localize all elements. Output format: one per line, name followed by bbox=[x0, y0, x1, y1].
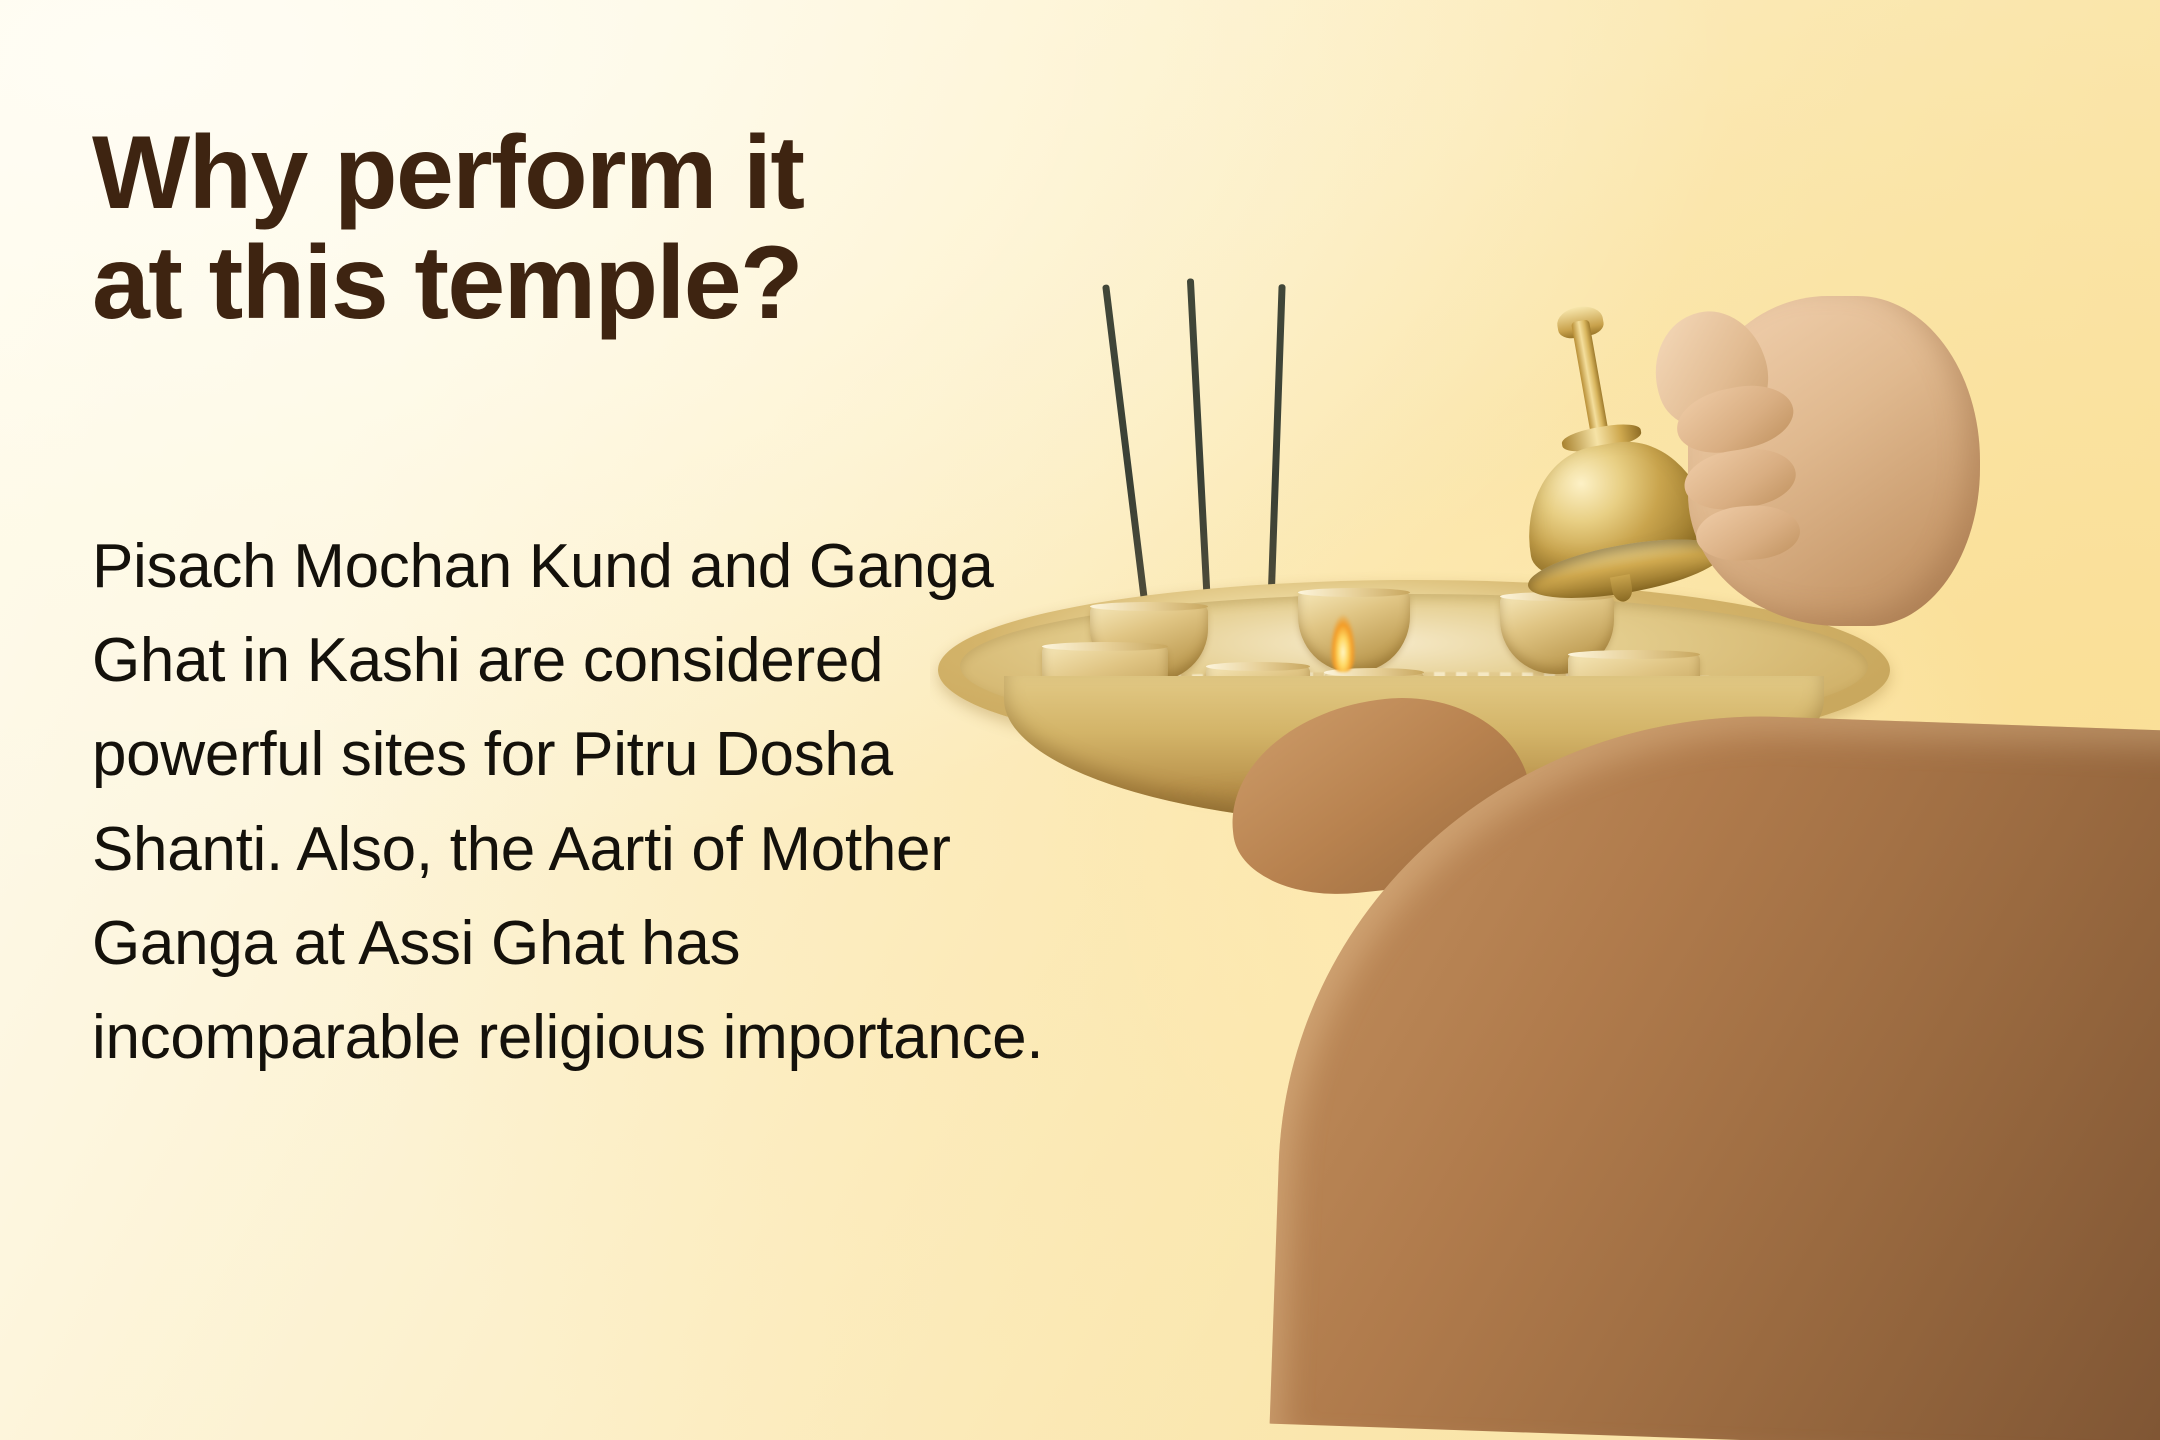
diya-lamp-lip bbox=[1298, 588, 1410, 597]
aarti-photo bbox=[930, 0, 2160, 1440]
diya-lamp-lip bbox=[1090, 602, 1208, 611]
diya-lamp-lip bbox=[1042, 642, 1168, 651]
diya-lamp-lip bbox=[1206, 662, 1310, 671]
body-paragraph: Pisach Mochan Kund and Ganga Ghat in Kas… bbox=[92, 520, 1052, 1085]
bell-hand bbox=[1602, 268, 2022, 698]
slide-canvas: Why perform it at this temple? Pisach Mo… bbox=[0, 0, 2160, 1440]
